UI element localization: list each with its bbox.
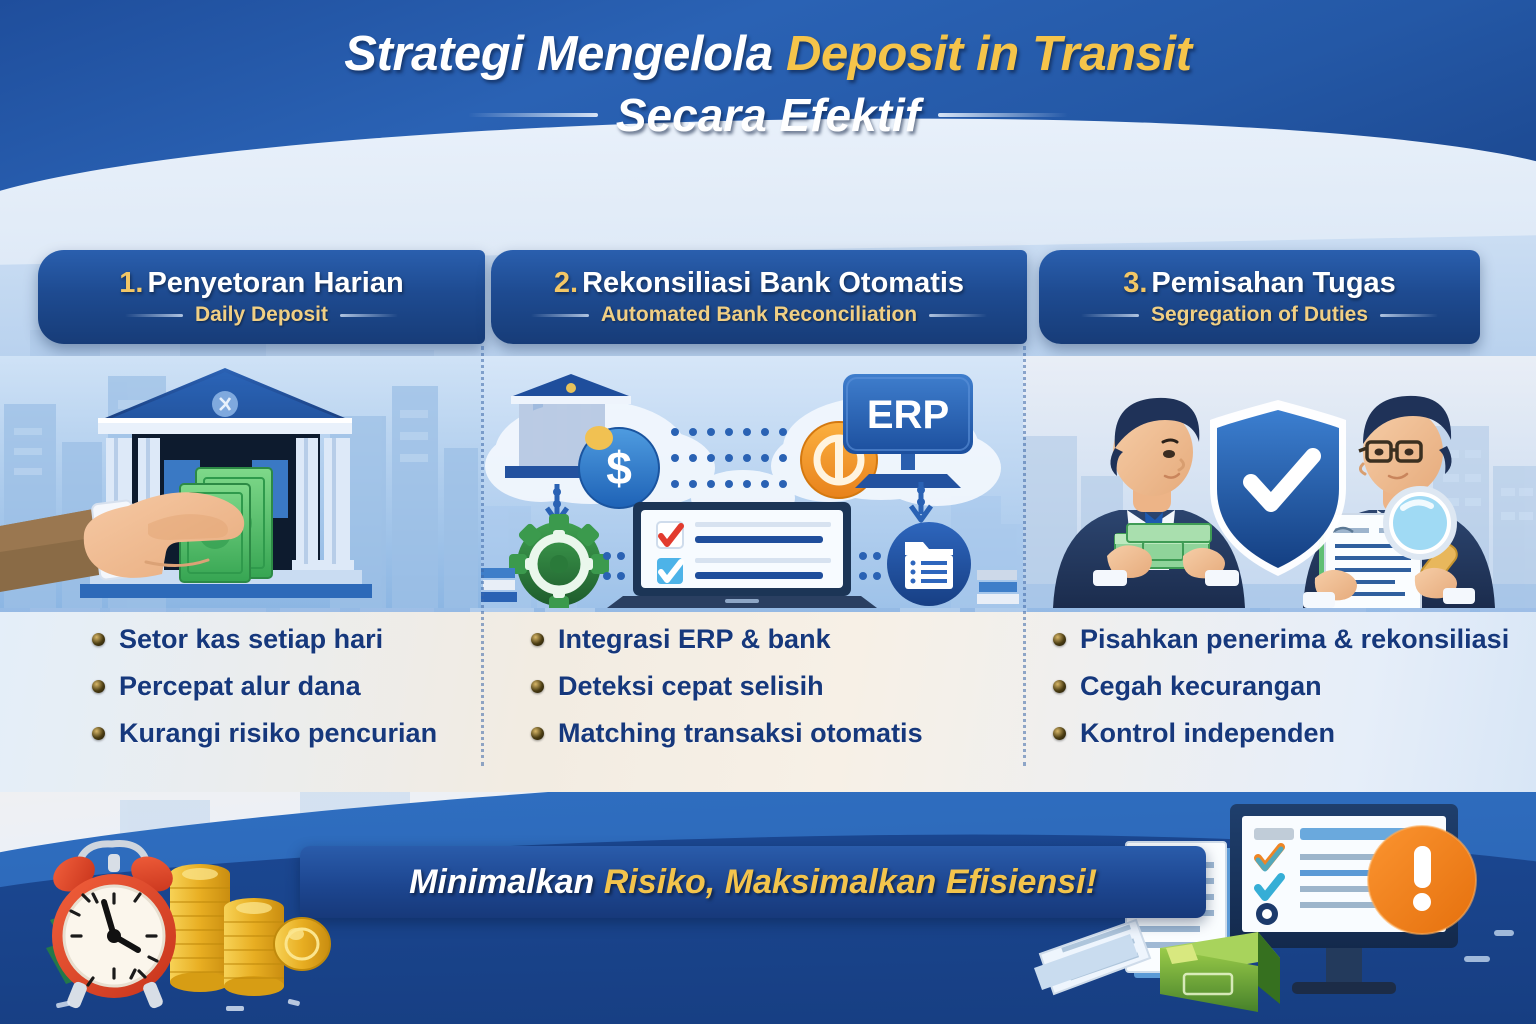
list-item: Deteksi cepat selisih — [531, 671, 1003, 702]
laptop-checklist-icon — [607, 502, 877, 608]
bullet-dot-icon — [92, 633, 105, 646]
ribbon-rule-right-icon — [1380, 314, 1438, 317]
page-title-highlight: Deposit in Transit — [786, 27, 1192, 81]
page-title-block: Strategi Mengelola Deposit in Transit Se… — [0, 0, 1536, 196]
list-item: Kontrol independen — [1053, 718, 1516, 749]
books-stack-icon — [977, 570, 1019, 604]
column-3-subtitle: Segregation of Duties — [1151, 303, 1368, 327]
bullet-dot-icon — [1053, 680, 1066, 693]
column-3-title: Pemisahan Tugas — [1151, 267, 1395, 299]
column-3-header-ribbon[interactable]: 3.Pemisahan Tugas Segregation of Duties — [1039, 250, 1480, 344]
books-stack-icon — [481, 568, 517, 602]
bullet-text: Deteksi cepat selisih — [558, 671, 824, 702]
column-divider-2 — [1023, 346, 1026, 766]
column-3-title-row: 3.Pemisahan Tugas — [1123, 267, 1396, 300]
column-3-number: 3. — [1123, 267, 1147, 299]
bullet-dot-icon — [1053, 633, 1066, 646]
column-1-subtitle: Daily Deposit — [195, 303, 328, 327]
title-rule-left-icon — [468, 113, 598, 117]
page-title-plain: Strategi Mengelola — [344, 27, 786, 81]
list-item: Cegah kecurangan — [1053, 671, 1516, 702]
bullet-dot-icon — [531, 633, 544, 646]
list-item: Integrasi ERP & bank — [531, 624, 1003, 655]
bullet-text: Pisahkan penerima & rekonsiliasi — [1080, 624, 1509, 655]
column-2-number: 2. — [554, 267, 578, 299]
column-3-subtitle-row: Segregation of Duties — [1081, 303, 1438, 327]
list-item: Kurangi risiko pencurian — [92, 718, 461, 749]
column-2-illustration: $ ERP — [481, 356, 1023, 608]
column-1-number: 1. — [119, 267, 143, 299]
page-subtitle: Secara Efektif — [616, 88, 920, 142]
strategy-column-1: 1.Penyetoran Harian Daily Deposit — [0, 196, 481, 1024]
ribbon-rule-left-icon — [531, 314, 589, 317]
column-2-subtitle-row: Automated Bank Reconciliation — [531, 303, 987, 327]
ribbon-rule-left-icon — [125, 314, 183, 317]
bullet-dot-icon — [92, 727, 105, 740]
page-title: Strategi Mengelola Deposit in Transit — [0, 26, 1536, 82]
strategy-column-2: 2.Rekonsiliasi Bank Otomatis Automated B… — [481, 196, 1023, 1024]
bullet-dot-icon — [531, 727, 544, 740]
erp-label: ERP — [867, 393, 949, 437]
bullet-dot-icon — [92, 680, 105, 693]
bullet-text: Setor kas setiap hari — [119, 624, 383, 655]
svg-text:$: $ — [606, 442, 632, 494]
list-item: Matching transaksi otomatis — [531, 718, 1003, 749]
column-1-title: Penyetoran Harian — [147, 267, 403, 299]
column-2-header-ribbon[interactable]: 2.Rekonsiliasi Bank Otomatis Automated B… — [491, 250, 1027, 344]
bullet-dot-icon — [1053, 727, 1066, 740]
column-2-subtitle: Automated Bank Reconciliation — [601, 303, 917, 327]
bullet-text: Cegah kecurangan — [1080, 671, 1322, 702]
list-item: Percepat alur dana — [92, 671, 461, 702]
infographic-canvas: Strategi Mengelola Deposit in Transit Se… — [0, 0, 1536, 1024]
column-3-illustration — [1023, 356, 1536, 608]
page-subtitle-row: Secara Efektif — [0, 88, 1536, 142]
list-item: Pisahkan penerima & rekonsiliasi — [1053, 624, 1516, 655]
column-2-title: Rekonsiliasi Bank Otomatis — [582, 267, 964, 299]
column-2-title-row: 2.Rekonsiliasi Bank Otomatis — [554, 267, 964, 300]
strategy-column-3: 3.Pemisahan Tugas Segregation of Duties — [1023, 196, 1536, 1024]
bullet-text: Kurangi risiko pencurian — [119, 718, 437, 749]
bullet-text: Integrasi ERP & bank — [558, 624, 831, 655]
column-3-bullet-list: Pisahkan penerima & rekonsiliasi Cegah k… — [1053, 624, 1516, 794]
ribbon-rule-left-icon — [1081, 314, 1139, 317]
bullet-dot-icon — [531, 680, 544, 693]
bullet-text: Matching transaksi otomatis — [558, 718, 923, 749]
bullet-text: Percepat alur dana — [119, 671, 361, 702]
list-item: Setor kas setiap hari — [92, 624, 461, 655]
column-1-title-row: 1.Penyetoran Harian — [119, 267, 403, 300]
column-1-subtitle-row: Daily Deposit — [125, 303, 398, 327]
column-1-bullet-list: Setor kas setiap hari Percepat alur dana… — [92, 624, 461, 794]
column-1-header-ribbon[interactable]: 1.Penyetoran Harian Daily Deposit — [38, 250, 485, 344]
column-divider-1 — [481, 346, 484, 766]
document-badge-icon — [887, 522, 971, 606]
ribbon-rule-right-icon — [929, 314, 987, 317]
column-1-illustration — [0, 356, 481, 608]
ribbon-rule-right-icon — [340, 314, 398, 317]
bullet-text: Kontrol independen — [1080, 718, 1335, 749]
column-2-bullet-list: Integrasi ERP & bank Deteksi cepat selis… — [531, 624, 1003, 794]
title-rule-right-icon — [938, 113, 1068, 117]
strategy-columns: 1.Penyetoran Harian Daily Deposit — [0, 196, 1536, 1024]
